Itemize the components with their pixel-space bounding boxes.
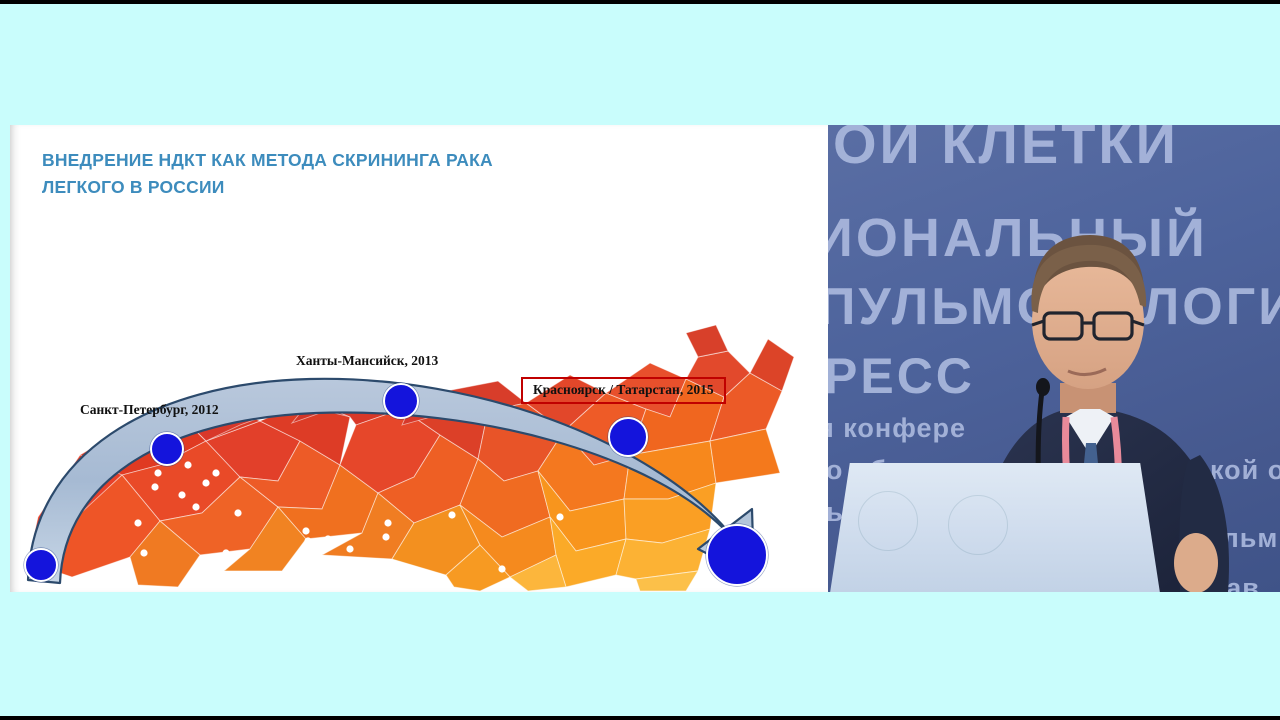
emblem-left-icon: [858, 491, 918, 551]
map-marker-samara[interactable]: [24, 548, 58, 582]
emblem-right-icon: [948, 495, 1008, 555]
map-label-saint-petersburg: Санкт-Петербург, 2012: [80, 402, 219, 418]
map-marker-khanty-mansiysk[interactable]: [383, 383, 419, 419]
map-label-krasnoyarsk-tatarstan: Красноярск / Татарстан, 2015: [521, 377, 726, 404]
map-marker-saint-petersburg[interactable]: [150, 432, 184, 466]
presentation-slide: ВНЕДРЕНИЕ НДКТ КАК МЕТОДА СКРИНИНГА РАКА…: [10, 125, 828, 592]
map-marker-moscow[interactable]: [706, 524, 768, 586]
speaker-video-panel[interactable]: ОЙ КЛЕТКИ ИОНАЛЬНЫЙ ПУЛЬМОНОЛОГИ РЕСС я …: [828, 125, 1280, 592]
map-label-khanty-mansiysk: Ханты-Мансийск, 2013: [296, 353, 438, 369]
podium: [830, 463, 1160, 592]
map-marker-krasnoyarsk-tatarstan[interactable]: [608, 417, 648, 457]
screen: ВНЕДРЕНИЕ НДКТ КАК МЕТОДА СКРИНИНГА РАКА…: [0, 0, 1280, 720]
page-title: ВНЕДРЕНИЕ НДКТ КАК МЕТОДА СКРИНИНГА РАКА…: [42, 147, 602, 201]
